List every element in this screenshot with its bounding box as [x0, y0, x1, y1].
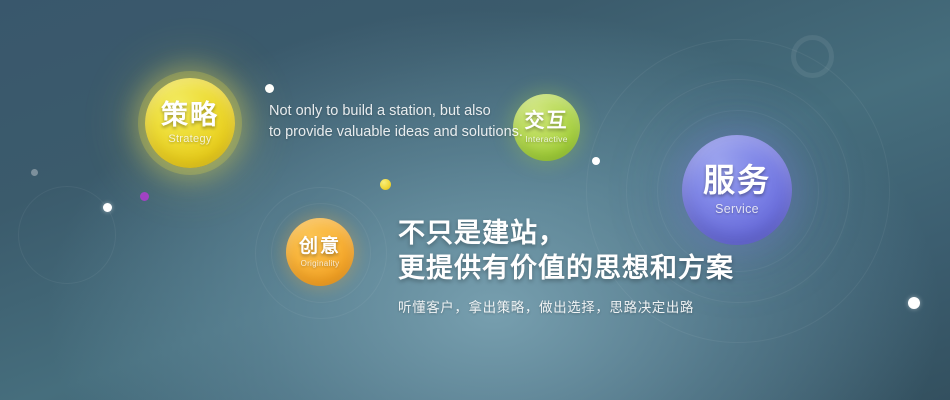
bubble-strategy-cn-label: 策略 [161, 102, 219, 129]
english-tagline: Not only to build a station, but also to… [269, 101, 509, 143]
headline-line-1: 不只是建站， [398, 216, 818, 251]
english-tagline-line-2: to provide valuable ideas and solutions. [269, 122, 509, 143]
white-dot-right-icon [908, 297, 920, 309]
headline-subtitle: 听懂客户，拿出策略，做出选择，思路决定出路 [398, 296, 818, 316]
headline-line-2: 更提供有价值的思想和方案 [398, 251, 818, 286]
english-tagline-line-1: Not only to build a station, but also [269, 101, 509, 122]
promo-banner: 策略 Strategy 创意 Originality 交互 Interactiv… [0, 0, 950, 400]
yellow-dot-mid-icon [380, 179, 391, 190]
white-dot-mid-icon [592, 157, 600, 165]
bubble-strategy-en-label: Strategy [168, 134, 211, 145]
ring-left-large [18, 186, 116, 284]
bubble-interactive-cn-label: 交互 [525, 111, 569, 131]
ring-top-right-thick [791, 35, 834, 78]
white-dot-left-icon [103, 203, 112, 212]
bubble-originality[interactable]: 创意 Originality [286, 218, 354, 286]
purple-dot-left-icon [140, 192, 149, 201]
white-dot-top-icon [265, 84, 274, 93]
bubble-interactive-en-label: Interactive [525, 135, 568, 144]
bubble-interactive[interactable]: 交互 Interactive [513, 94, 580, 161]
bubble-strategy[interactable]: 策略 Strategy [145, 78, 235, 168]
bubble-originality-cn-label: 创意 [299, 237, 341, 256]
bubble-service-en-label: Service [715, 203, 759, 216]
bubble-originality-en-label: Originality [301, 260, 340, 268]
headline-block: 不只是建站， 更提供有价值的思想和方案 听懂客户，拿出策略，做出选择，思路决定出… [398, 216, 818, 316]
bubble-service-cn-label: 服务 [703, 164, 771, 196]
gray-dot-left-icon [31, 169, 38, 176]
